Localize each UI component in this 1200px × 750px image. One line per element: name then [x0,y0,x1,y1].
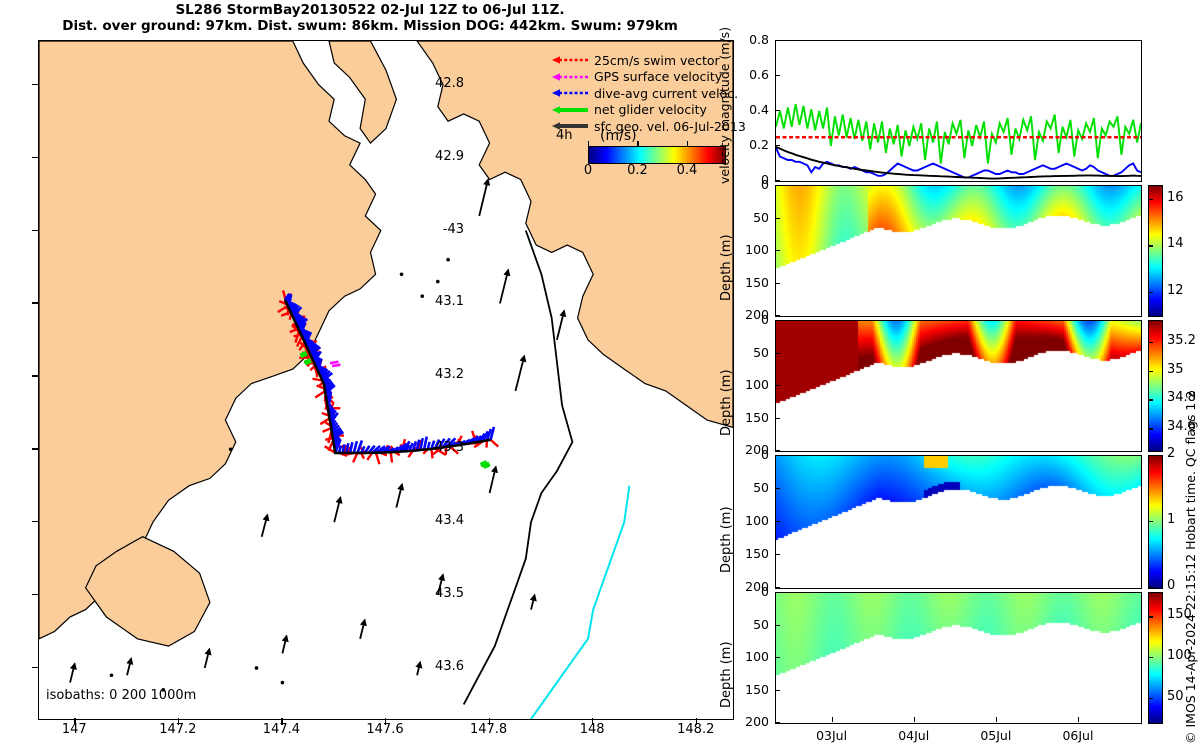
series-dive-avg current veloc. [776,148,1141,178]
map-colorbar-tick: 0.4 [667,163,707,178]
chlorophyll-section-y-tick: 150 [733,546,769,561]
legend-arrow-icon [552,104,590,116]
temperature-section-colorbar-tick-mark [1148,245,1153,246]
temperature-section-y-tick-mark [775,283,780,284]
map-y-tick: 43.6 [404,659,464,674]
oxygen-saturation-section-y-tick-mark [775,690,780,691]
time-axis-tick: 04Jul [884,728,944,743]
map-colorbar-tick: 0 [568,163,608,178]
salinity-section-colorbar-tick-mark [1148,371,1153,372]
legend-arrow-icon [552,54,590,66]
page-title: SL286 StormBay20130522 02-Jul 12Z to 06-… [0,2,740,34]
map-y-tick: 42.8 [404,76,464,91]
legend-label: GPS surface velocity [594,69,722,84]
time-axis-tick-mark [914,717,915,722]
chlorophyll-section-colorbar-tick-mark [1148,521,1153,522]
salinity-section-colorbar-tick-mark [1148,428,1153,429]
legend-item-4: sfc geo. vel. 06-Jul-2013 [552,118,732,135]
map-y-tick: 43.3 [404,440,464,455]
legend-item-1: GPS surface velocity [552,69,732,86]
oxygen-saturation-section-y-tick-mark [775,657,780,658]
time-axis-tick-mark [996,717,997,722]
temperature-section-y-tick-mark [775,185,780,186]
chlorophyll-section-y-tick-mark [775,455,780,456]
temperature-section-y-tick: 150 [733,275,769,290]
map-colorbar-tick: 0.2 [617,163,657,178]
oxygen-saturation-section-y-tick: 50 [733,617,769,632]
temperature-section-panel[interactable] [775,185,1142,317]
title-line-1: SL286 StormBay20130522 02-Jul 12Z to 06-… [0,2,740,18]
map-y-tick: 43.2 [404,367,464,382]
salinity-section-canvas [776,321,1141,451]
map-y-tick-mark [32,230,38,231]
legend-item-3: net glider velocity [552,102,732,119]
chlorophyll-section-colorbar-tick-mark [1148,455,1153,456]
oxygen-saturation-section-colorbar-tick: 50 [1167,689,1184,704]
velocity-y-tick-mark [775,75,780,76]
map-x-tick-mark [74,718,75,725]
temperature-section-colorbar-tick: 14 [1167,236,1184,251]
chlorophyll-section-colorbar-tick: 1 [1167,512,1175,527]
temperature-section-y-tick-mark [775,250,780,251]
temperature-section-colorbar [1148,185,1163,317]
temperature-section-colorbar-tick-mark [1148,199,1153,200]
velocity-plot-panel[interactable] [775,40,1142,182]
velocity-y-tick-mark [775,180,780,181]
chlorophyll-section-colorbar-tick-mark [1148,587,1153,588]
salinity-section-y-axis-label: Depth (m) [719,369,734,436]
map-colorbar-tick-mark [637,141,638,146]
temperature-section-y-axis-label: Depth (m) [719,234,734,301]
credit-text: © IMOS 14-Apr-2024 22:15:12 Hobart time.… [1183,391,1198,744]
time-axis-tick-mark [832,717,833,722]
salinity-section-colorbar-tick-mark [1148,399,1153,400]
chlorophyll-section-y-tick-mark [775,587,780,588]
oxygen-saturation-section-y-tick: 150 [733,682,769,697]
map-colorbar-title: (m/s) [600,128,637,144]
salinity-section-y-tick-mark [775,353,780,354]
velocity-y-tick: 0.6 [733,67,769,82]
map-y-tick-mark [32,521,38,522]
map-y-tick-mark [32,448,38,449]
map-colorbar [588,146,726,164]
legend-item-2: dive-avg current veloc. [552,85,732,102]
chlorophyll-section-y-tick-mark [775,554,780,555]
map-y-tick: 43.1 [404,294,464,309]
salinity-section-y-tick: 0 [733,312,769,327]
chlorophyll-section-y-axis-label: Depth (m) [719,506,734,573]
velocity-y-tick: 0.4 [733,102,769,117]
temperature-section-colorbar-tick-mark [1148,292,1153,293]
map-x-tick-mark [489,718,490,725]
oxygen-saturation-section-y-axis-label: Depth (m) [719,641,734,708]
oxygen-saturation-section-y-tick-mark [775,625,780,626]
oxygen-saturation-section-y-tick: 0 [733,584,769,599]
map-y-tick: 43.4 [404,513,464,528]
temperature-section-y-tick-mark [775,218,780,219]
temperature-section-colorbar-tick: 12 [1167,283,1184,298]
title-line-2: Dist. over ground: 97km. Dist. swum: 86k… [0,18,740,34]
map-x-tick-mark [592,718,593,725]
oxygen-saturation-section-y-tick: 100 [733,649,769,664]
velocity-plot-svg [776,41,1141,181]
velocity-y-tick-mark [775,40,780,41]
salinity-section-y-tick: 100 [733,377,769,392]
map-y-tick-mark [32,375,38,376]
map-legend: 25cm/s swim vectorGPS surface velocitydi… [552,52,732,135]
map-y-tick: 42.9 [404,149,464,164]
salinity-section-y-tick-mark [775,450,780,451]
map-y-tick-mark [32,84,38,85]
time-axis-tick-mark [1078,717,1079,722]
map-x-tick-mark [385,718,386,725]
oxygen-saturation-section-y-tick-mark [775,592,780,593]
map-y-tick: 43.5 [404,586,464,601]
temperature-section-y-tick: 0 [733,177,769,192]
legend-arrow-icon [552,71,590,83]
scale-bar-note: 4h [556,128,573,143]
velocity-y-tick-mark [775,145,780,146]
map-y-tick: -43 [404,222,464,237]
oxygen-saturation-section-colorbar-tick-mark [1148,657,1153,658]
salinity-section-colorbar [1148,320,1163,452]
chlorophyll-section-panel[interactable] [775,455,1142,589]
chlorophyll-section-y-tick: 100 [733,513,769,528]
temperature-section-canvas [776,186,1141,316]
chlorophyll-section-y-tick: 0 [733,447,769,462]
salinity-section-y-tick: 150 [733,410,769,425]
salinity-section-colorbar-tick: 35 [1167,362,1184,377]
map-y-tick-mark [32,667,38,668]
salinity-section-colorbar-tick: 35.2 [1167,333,1196,348]
salinity-section-y-tick-mark [775,418,780,419]
temperature-section-y-tick-mark [775,315,780,316]
velocity-y-axis-label: velocity magnitude (m/s) [717,27,732,184]
velocity-y-tick: 0.8 [733,32,769,47]
oxygen-saturation-section-panel[interactable] [775,592,1142,724]
velocity-y-tick-mark [775,110,780,111]
oxygen-saturation-section-colorbar-tick-mark [1148,698,1153,699]
map-x-tick-mark [696,718,697,725]
legend-item-0: 25cm/s swim vector [552,52,732,69]
salinity-section-colorbar-tick-mark [1148,342,1153,343]
chlorophyll-section-canvas [776,456,1141,588]
legend-arrow-icon [552,87,590,99]
map-y-tick-mark [32,302,38,303]
map-colorbar-tick-mark [588,141,589,146]
oxygen-saturation-section-colorbar-tick-mark [1148,616,1153,617]
oxygen-saturation-section-canvas [776,593,1141,723]
velocity-y-tick: 0.2 [733,137,769,152]
salinity-section-y-tick-mark [775,385,780,386]
time-axis-tick: 05Jul [966,728,1026,743]
salinity-section-y-tick: 50 [733,345,769,360]
oxygen-saturation-section-y-tick: 200 [733,714,769,729]
legend-label: 25cm/s swim vector [594,53,720,68]
chlorophyll-section-y-tick-mark [775,488,780,489]
temperature-section-y-tick: 50 [733,210,769,225]
chlorophyll-section-colorbar-tick: 2 [1167,446,1175,461]
time-axis-tick: 03Jul [802,728,862,743]
map-x-tick-mark [178,718,179,725]
temperature-section-y-tick: 100 [733,242,769,257]
chlorophyll-section-colorbar-tick: 0 [1167,578,1175,593]
map-x-tick-mark [281,718,282,725]
oxygen-saturation-section-y-tick-mark [775,722,780,723]
salinity-section-panel[interactable] [775,320,1142,452]
map-colorbar-tick-mark [687,141,688,146]
isobaths-note: isobaths: 0 200 1000m [46,688,196,703]
temperature-section-colorbar-tick: 16 [1167,190,1184,205]
time-axis-tick: 06Jul [1048,728,1108,743]
map-y-tick-mark [32,594,38,595]
chlorophyll-section-y-tick-mark [775,521,780,522]
chlorophyll-section-y-tick: 50 [733,480,769,495]
legend-label: net glider velocity [594,102,707,117]
salinity-section-y-tick-mark [775,320,780,321]
series-net glider velocity [776,104,1141,164]
map-y-tick-mark [32,157,38,158]
